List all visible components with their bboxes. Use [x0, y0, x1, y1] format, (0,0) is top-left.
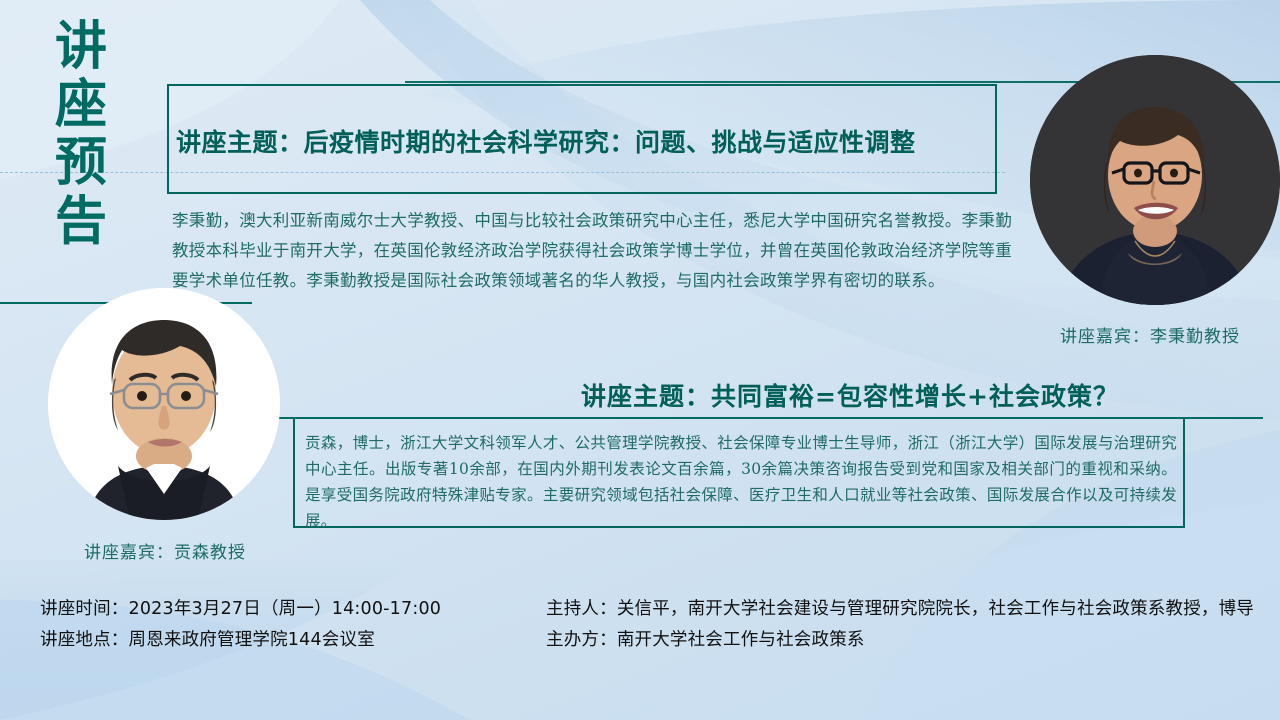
poster-vertical-title: 讲 座 预 告 — [42, 18, 122, 251]
lecture-2-speaker-bio: 贡森，博士，浙江大学文科领军人才、公共管理学院教授、社会保障专业博士生导师，浙江… — [305, 430, 1177, 534]
footer-left-column: 讲座时间：2023年3月27日（周一）14:00-17:00 讲座地点：周恩来政… — [40, 594, 540, 656]
poster-footer-info: 讲座时间：2023年3月27日（周一）14:00-17:00 讲座地点：周恩来政… — [0, 594, 1280, 674]
footer-place-label: 讲座地点： — [40, 630, 129, 650]
vertical-title-char-4: 告 — [42, 193, 122, 251]
footer-organizer-row: 主办方：南开大学社会工作与社会政策系 — [546, 625, 1276, 656]
lecture-announcement-poster: 讲 座 预 告 讲座主题：后疫情时期的社会科学研究：问题、挑战与适应性调整 李秉… — [0, 0, 1280, 720]
lecture-1-speaker-bio: 李秉勤，澳大利亚新南威尔士大学教授、中国与比较社会政策研究中心主任，悉尼大学中国… — [172, 206, 1012, 296]
footer-place-value: 周恩来政府管理学院144会议室 — [129, 630, 375, 650]
portrait-illustration-li — [1030, 55, 1280, 305]
lecture-1-title: 讲座主题：后疫情时期的社会科学研究：问题、挑战与适应性调整 — [176, 123, 996, 159]
lecture-2-title: 讲座主题：共同富裕=包容性增长+社会政策？ — [480, 377, 1220, 413]
vertical-title-char-2: 座 — [42, 76, 122, 134]
lecture-2-speaker-photo — [48, 288, 280, 520]
footer-time-value: 2023年3月27日（周一）14:00-17:00 — [129, 599, 442, 619]
footer-organizer-value: 南开大学社会工作与社会政策系 — [617, 630, 865, 650]
vertical-title-char-3: 预 — [42, 134, 122, 192]
lecture-1-speaker-caption: 讲座嘉宾：李秉勤教授 — [1035, 322, 1265, 347]
footer-host-value: 关信平，南开大学社会建设与管理研究院院长，社会工作与社会政策系教授，博导 — [617, 599, 1254, 619]
footer-time-row: 讲座时间：2023年3月27日（周一）14:00-17:00 — [40, 594, 540, 625]
portrait-illustration-gong — [48, 288, 280, 520]
footer-organizer-label: 主办方： — [546, 630, 617, 650]
footer-host-row: 主持人：关信平，南开大学社会建设与管理研究院院长，社会工作与社会政策系教授，博导 — [546, 594, 1276, 625]
footer-time-label: 讲座时间： — [40, 599, 129, 619]
lecture-2-speaker-caption: 讲座嘉宾：贡森教授 — [20, 538, 310, 563]
footer-host-label: 主持人： — [546, 599, 617, 619]
footer-place-row: 讲座地点：周恩来政府管理学院144会议室 — [40, 625, 540, 656]
footer-right-column: 主持人：关信平，南开大学社会建设与管理研究院院长，社会工作与社会政策系教授，博导… — [546, 594, 1276, 656]
lecture-1-speaker-photo — [1030, 55, 1280, 305]
vertical-title-char-1: 讲 — [42, 18, 122, 76]
